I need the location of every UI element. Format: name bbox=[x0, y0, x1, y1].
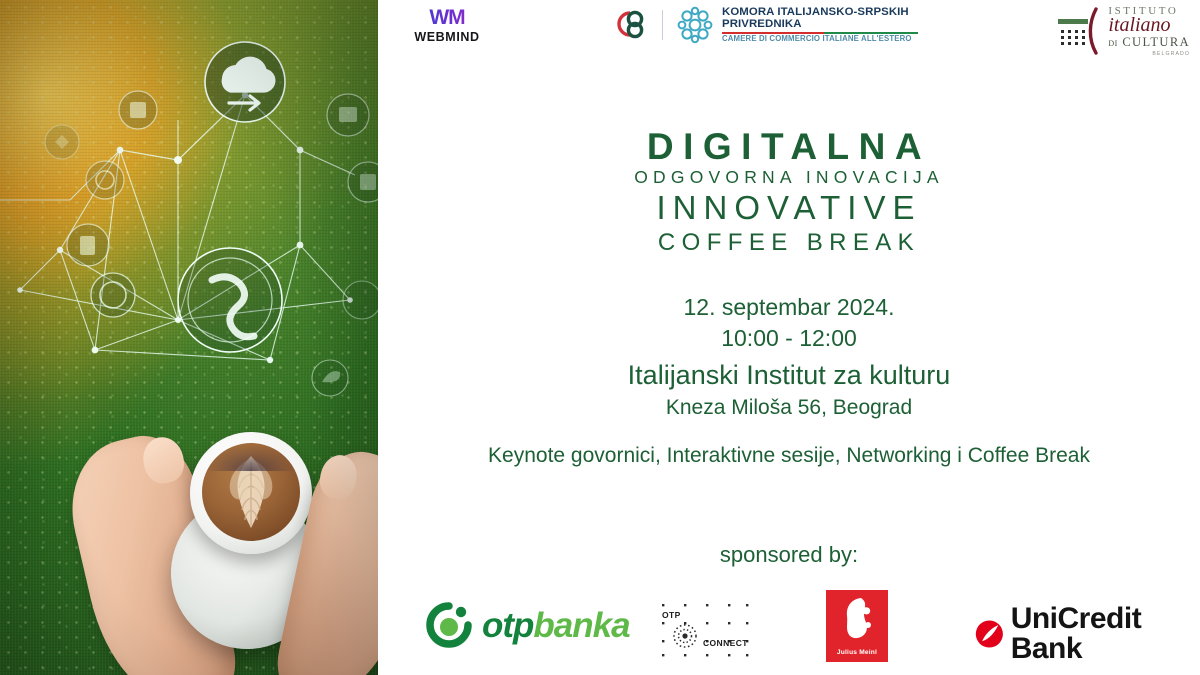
komora-line2: PRIVREDNIKA bbox=[722, 19, 918, 31]
logo-webmind: WM WEBMIND bbox=[395, 7, 499, 44]
istituto-line3-main: CULTURA bbox=[1122, 35, 1190, 49]
logo-divider bbox=[662, 10, 663, 40]
otp-banka-wordmark: otpbanka bbox=[482, 608, 630, 643]
content-panel: WM WEBMIND bbox=[378, 0, 1200, 675]
otp-banka-text-a: otp bbox=[482, 606, 533, 645]
logo-istituto-italiano-di-cultura: ISTITUTO italiano DI CULTURA BELGRADO bbox=[1056, 5, 1190, 57]
otp-connect-text-connect: CONNECT bbox=[703, 638, 748, 648]
event-details: 12. septembar 2024. 10:00 - 12:00 Italij… bbox=[378, 292, 1200, 423]
headline-line-coffee-break: COFFEE BREAK bbox=[378, 230, 1200, 256]
logo-otp-banka: otpbanka bbox=[426, 602, 630, 648]
julius-meinl-box: Julius Meinl bbox=[826, 590, 888, 662]
logo-komora: KOMORA ITALIJANSKO-SRPSKIH PRIVREDNIKA C… bbox=[610, 6, 918, 44]
otp-banka-text-b2: banka bbox=[533, 606, 629, 645]
unicredit-mark-icon bbox=[974, 617, 1005, 651]
event-tagline: Keynote govornici, Interaktivne sesije, … bbox=[378, 444, 1200, 468]
event-address: Kneza Miloša 56, Beograd bbox=[378, 394, 1200, 423]
istituto-line4: BELGRADO bbox=[1108, 51, 1190, 57]
otp-connect-text-otp: OTP bbox=[662, 610, 681, 620]
event-date: 12. septembar 2024. bbox=[378, 292, 1200, 323]
julius-meinl-moor-icon bbox=[837, 594, 877, 642]
sponsored-by-label: sponsored by: bbox=[378, 542, 1200, 568]
julius-meinl-wordmark: Julius Meinl bbox=[837, 649, 877, 656]
logo-unicredit-bank: UniCredit Bank bbox=[974, 604, 1200, 664]
photo-vignette bbox=[0, 0, 378, 675]
istituto-line3: DI CULTURA bbox=[1108, 35, 1190, 50]
otp-banka-mark-icon bbox=[426, 602, 472, 648]
otp-connect-mark-icon: OTP CONNECT bbox=[656, 596, 752, 660]
event-poster: WM WEBMIND bbox=[0, 0, 1200, 675]
istituto-text-block: ISTITUTO italiano DI CULTURA BELGRADO bbox=[1108, 5, 1190, 57]
webmind-mark: WM bbox=[395, 7, 499, 28]
istituto-line3-small: DI bbox=[1108, 39, 1117, 48]
logo-otp-connect: OTP CONNECT bbox=[656, 596, 752, 660]
event-headline: DIGITALNA ODGOVORNA INOVACIJA INNOVATIVE… bbox=[378, 128, 1200, 256]
komora-text-block: KOMORA ITALIJANSKO-SRPSKIH PRIVREDNIKA C… bbox=[722, 7, 918, 43]
c3-mark-icon bbox=[610, 7, 650, 43]
event-time: 10:00 - 12:00 bbox=[378, 323, 1200, 354]
headline-line-innovative: INNOVATIVE bbox=[378, 191, 1200, 226]
hero-photo-panel bbox=[0, 0, 378, 675]
komora-line3: CAMERE DI COMMERCIO ITALIANE ALL'ESTERO bbox=[722, 35, 918, 43]
webmind-wordmark: WEBMIND bbox=[395, 30, 499, 44]
komora-line1: KOMORA ITALIJANSKO-SRPSKIH bbox=[722, 7, 918, 19]
istituto-line2: italiano bbox=[1108, 16, 1190, 35]
headline-line-odgovorna-inovacija: ODGOVORNA INOVACIJA bbox=[378, 167, 1200, 188]
logo-julius-meinl: Julius Meinl bbox=[826, 590, 888, 662]
chamber-knot-icon bbox=[675, 6, 715, 44]
unicredit-wordmark: UniCredit Bank bbox=[1011, 604, 1200, 664]
sponsor-logo-row: otpbanka OTP C bbox=[378, 588, 1200, 670]
partner-logo-bar: WM WEBMIND bbox=[378, 0, 1200, 62]
event-venue: Italijanski Institut za kulturu bbox=[378, 357, 1200, 394]
headline-line-digitalna: DIGITALNA bbox=[378, 128, 1200, 166]
